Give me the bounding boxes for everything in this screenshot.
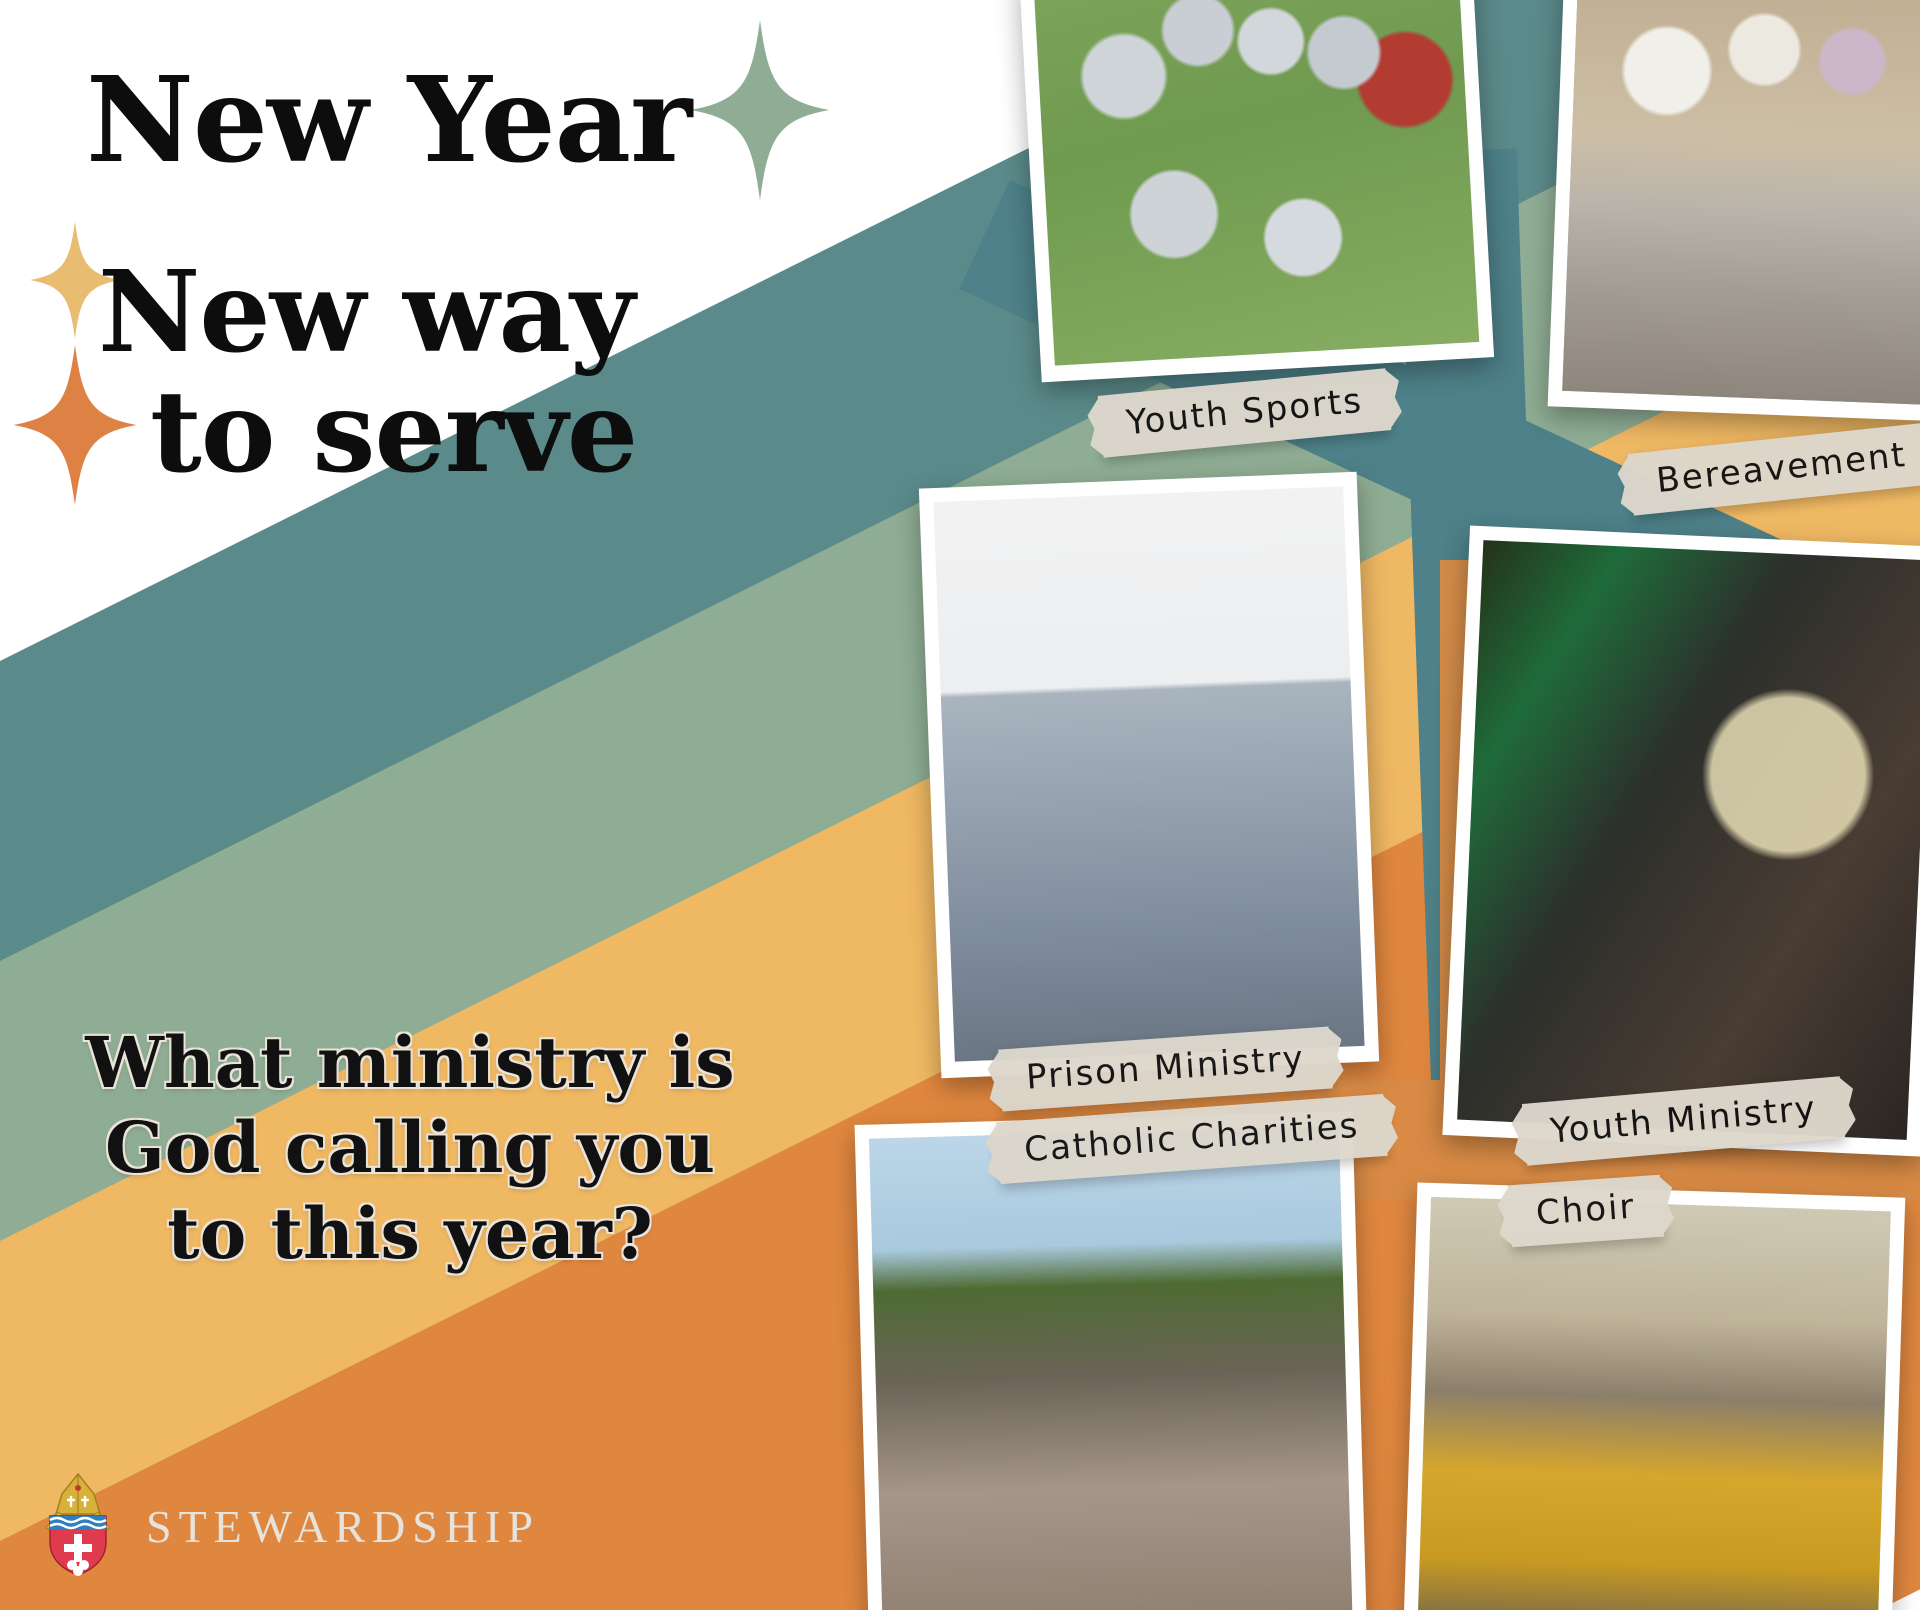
- photo-card-prison-ministry: [919, 472, 1379, 1078]
- headline-line-3: to serve: [150, 378, 637, 488]
- photo-image-choir: [1417, 1197, 1891, 1610]
- photo-card-youth-ministry: [1442, 525, 1920, 1156]
- footer-branding: STEWARDSHIP: [34, 1470, 540, 1583]
- photo-card-catholic-charities: [855, 1111, 1368, 1610]
- photo-image-youth-ministry: [1457, 540, 1920, 1140]
- photo-image-prison-ministry: [933, 486, 1364, 1061]
- headline-line-2: New way: [98, 258, 634, 368]
- photo-card-youth-sports: [1019, 0, 1494, 382]
- photo-label-choir: Choir: [1508, 1175, 1663, 1247]
- poster-canvas: New Year New way to serve What ministry …: [0, 0, 1920, 1610]
- diocesan-coat-of-arms-icon: [34, 1470, 122, 1583]
- photo-image-bereavement: [1562, 0, 1920, 407]
- photo-card-choir: [1403, 1182, 1906, 1610]
- headline-line-1: New Year: [86, 62, 691, 178]
- sub-headline-question: What ministry is God calling you to this…: [60, 1020, 760, 1276]
- photo-image-catholic-charities: [869, 1126, 1353, 1610]
- sparkle-green-icon: [690, 20, 830, 200]
- photo-image-youth-sports: [1034, 0, 1480, 366]
- stewardship-wordmark: STEWARDSHIP: [146, 1500, 540, 1553]
- photo-card-bereavement: [1548, 0, 1920, 423]
